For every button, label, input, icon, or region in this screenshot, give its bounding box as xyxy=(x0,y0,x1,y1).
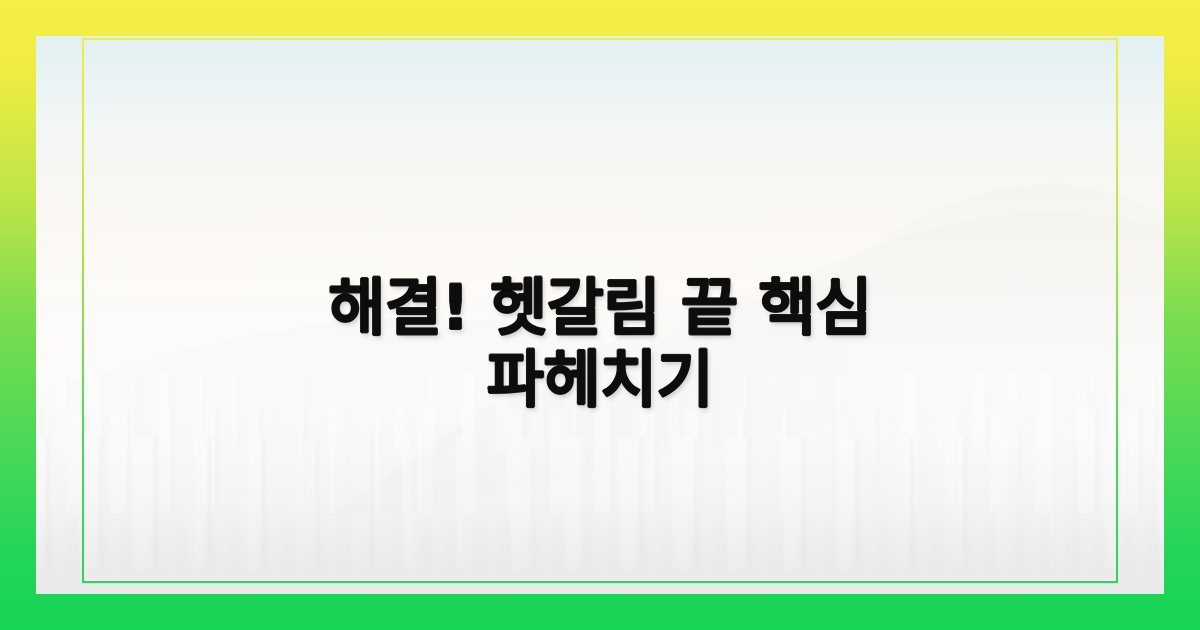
treeline xyxy=(36,501,1164,575)
cityscape xyxy=(36,282,1164,594)
photo-frame: 해결! 헷갈림 끝 핵심 파헤치기 xyxy=(36,36,1164,594)
thumbnail-canvas: 해결! 헷갈림 끝 핵심 파헤치기 xyxy=(0,0,1200,630)
